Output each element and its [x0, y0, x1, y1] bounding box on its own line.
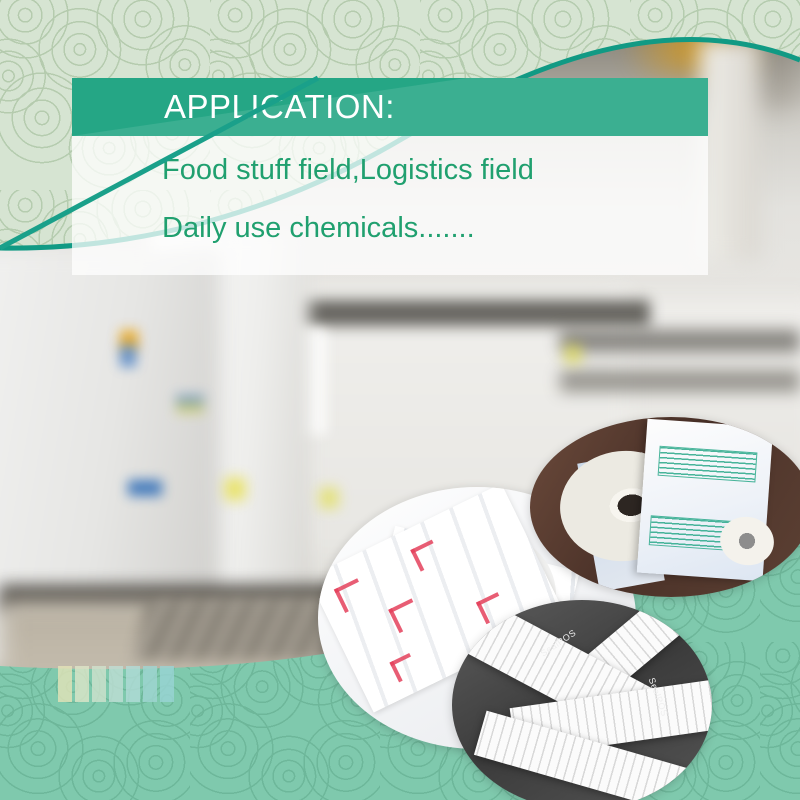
swatch	[160, 666, 174, 702]
swatch	[126, 666, 140, 702]
swatch	[75, 666, 89, 702]
application-header-bar: APPLICATION:	[72, 78, 708, 136]
page-title: APPLICATION:	[164, 88, 395, 126]
swatch	[92, 666, 106, 702]
bpa-free-paper-photo: BPA	[530, 417, 800, 597]
swatch	[143, 666, 157, 702]
swatch	[109, 666, 123, 702]
application-line-1: Food stuff field,Logistics field	[162, 154, 534, 187]
bpa-free-statement-note	[658, 446, 758, 483]
receipt-paper-rolls-photo: SealPOS SealPOS	[452, 600, 712, 800]
application-text-panel: Food stuff field,Logistics field Daily u…	[72, 136, 708, 275]
application-line-2: Daily use chemicals.......	[162, 212, 475, 245]
color-swatch-strip	[58, 666, 174, 702]
banner-image: BPA SealPOS SealPOS APPLICATION: Food st…	[0, 0, 800, 800]
swatch	[58, 666, 72, 702]
